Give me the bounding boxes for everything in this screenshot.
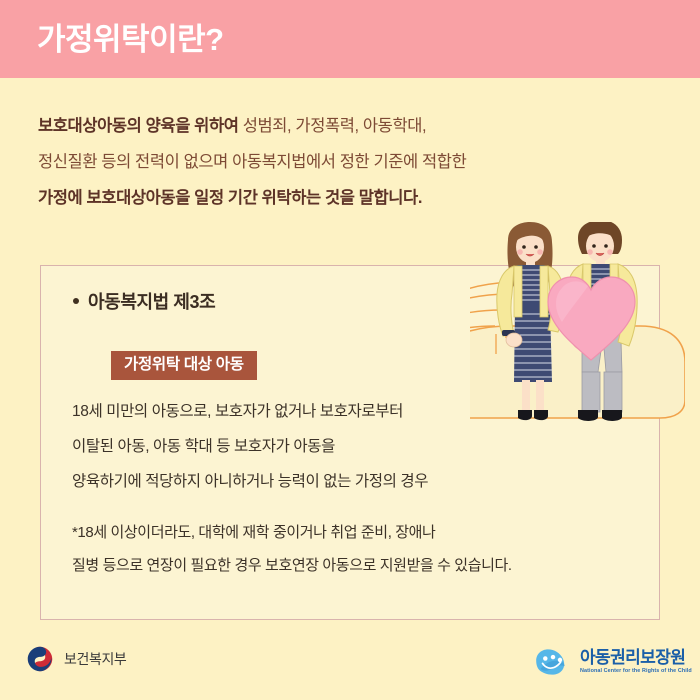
intro-line-3-bold: 가정에 보호대상아동을 일정 기간 위탁하는 것을 말합니다. <box>38 189 422 207</box>
body-line-2: 이탈된 아동, 아동 학대 등 보호자가 아동을 <box>72 429 632 464</box>
eligibility-body: 18세 미만의 아동으로, 보호자가 없거나 보호자로부터 이탈된 아동, 아동… <box>72 394 632 499</box>
intro-line-1-regular: 성범죄, 가정폭력, 아동학대, <box>243 117 427 135</box>
content-panel: 아동복지법 제3조 가정위탁 대상 아동 18세 미만의 아동으로, 보호자가 … <box>40 265 660 620</box>
note-line-2: 질병 등으로 연장이 필요한 경우 보호연장 아동으로 지원받을 수 있습니다. <box>72 549 637 582</box>
law-bullet-row: 아동복지법 제3조 <box>73 288 215 314</box>
law-bullet-label: 아동복지법 제3조 <box>88 288 215 314</box>
intro-line-1: 보호대상아동의 양육을 위하여 성범죄, 가정폭력, 아동학대, <box>38 108 658 144</box>
ncrc-label-ko: 아동권리보장원 <box>580 649 692 666</box>
page-title: 가정위탁이란? <box>37 20 224 60</box>
intro-line-2-regular: 정신질환 등의 전력이 없으며 아동복지법에서 정한 기준에 적합한 <box>38 153 466 171</box>
body-line-3: 양육하기에 적당하지 아니하거나 능력이 없는 가정의 경우 <box>72 464 632 499</box>
ministry-logo-group: 보건복지부 <box>26 645 126 673</box>
body-line-1: 18세 미만의 아동으로, 보호자가 없거나 보호자로부터 <box>72 394 632 429</box>
intro-line-3: 가정에 보호대상아동을 일정 기간 위탁하는 것을 말합니다. <box>38 180 658 216</box>
intro-line-1-bold: 보호대상아동의 양육을 위하여 <box>38 117 243 135</box>
ncrc-logo-group: 아동권리보장원 National Center for the Rights o… <box>533 648 692 676</box>
ncrc-label-en: National Center for the Rights of the Ch… <box>580 669 692 674</box>
ministry-label: 보건복지부 <box>64 649 126 669</box>
ncrc-heart-icon <box>533 648 573 676</box>
intro-line-2: 정신질환 등의 전력이 없으며 아동복지법에서 정한 기준에 적합한 <box>38 144 658 180</box>
bullet-dot-icon <box>73 298 79 304</box>
intro-paragraph: 보호대상아동의 양육을 위하여 성범죄, 가정폭력, 아동학대, 정신질환 등의… <box>38 108 658 216</box>
status-badge: 가정위탁 대상 아동 <box>111 351 257 380</box>
note-line-1: *18세 이상이더라도, 대학에 재학 중이거나 취업 준비, 장애나 <box>72 516 637 549</box>
taegeuk-icon <box>26 645 54 673</box>
eligibility-footnote: *18세 이상이더라도, 대학에 재학 중이거나 취업 준비, 장애나 질병 등… <box>72 516 637 582</box>
ncrc-text: 아동권리보장원 National Center for the Rights o… <box>580 649 692 674</box>
infographic-page: 가정위탁이란? 보호대상아동의 양육을 위하여 성범죄, 가정폭력, 아동학대,… <box>0 0 700 700</box>
